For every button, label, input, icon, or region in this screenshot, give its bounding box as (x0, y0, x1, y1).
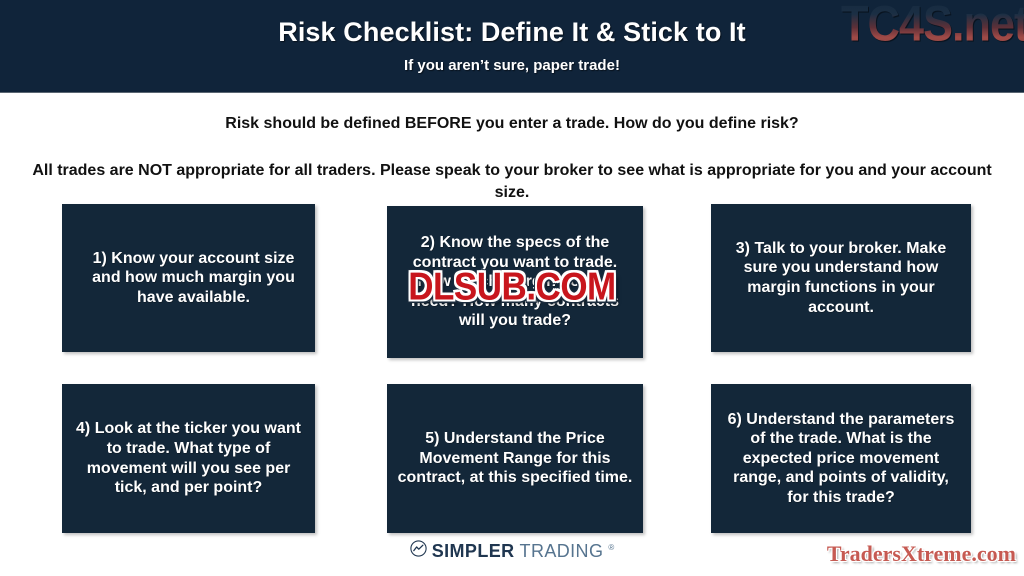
risk-box-1-text: 1) Know your account size and how much m… (72, 249, 305, 308)
risk-box-5: 5) Understand the Price Movement Range f… (387, 384, 643, 533)
intro-question: Risk should be defined BEFORE you enter … (0, 115, 1024, 133)
watermark-tradersxtreme: TradersXtreme.com (827, 541, 1016, 567)
watermark-tc4s: TC4S.net (841, 0, 1024, 48)
risk-box-4: 4) Look at the ticker you want to trade.… (62, 384, 315, 533)
risk-box-3-text: 3) Talk to your broker. Make sure you un… (721, 239, 961, 317)
risk-box-6-text: 6) Understand the parameters of the trad… (721, 410, 961, 508)
risk-box-3: 3) Talk to your broker. Make sure you un… (711, 204, 971, 352)
logo-word-simpler: SIMPLER (432, 541, 515, 562)
risk-box-5-text: 5) Understand the Price Movement Range f… (397, 429, 633, 488)
chart-circle-icon (410, 540, 427, 562)
intro-disclaimer: All trades are NOT appropriate for all t… (32, 160, 992, 203)
logo-word-trading: TRADING (520, 541, 604, 562)
logo-registered-mark: ® (608, 543, 614, 552)
watermark-dlsub: DLSUB.COM (362, 267, 662, 306)
page-subtitle: If you aren’t sure, paper trade! (0, 57, 1024, 74)
risk-box-1: 1) Know your account size and how much m… (62, 204, 315, 352)
risk-box-4-text: 4) Look at the ticker you want to trade.… (72, 419, 305, 497)
risk-box-6: 6) Understand the parameters of the trad… (711, 384, 971, 533)
